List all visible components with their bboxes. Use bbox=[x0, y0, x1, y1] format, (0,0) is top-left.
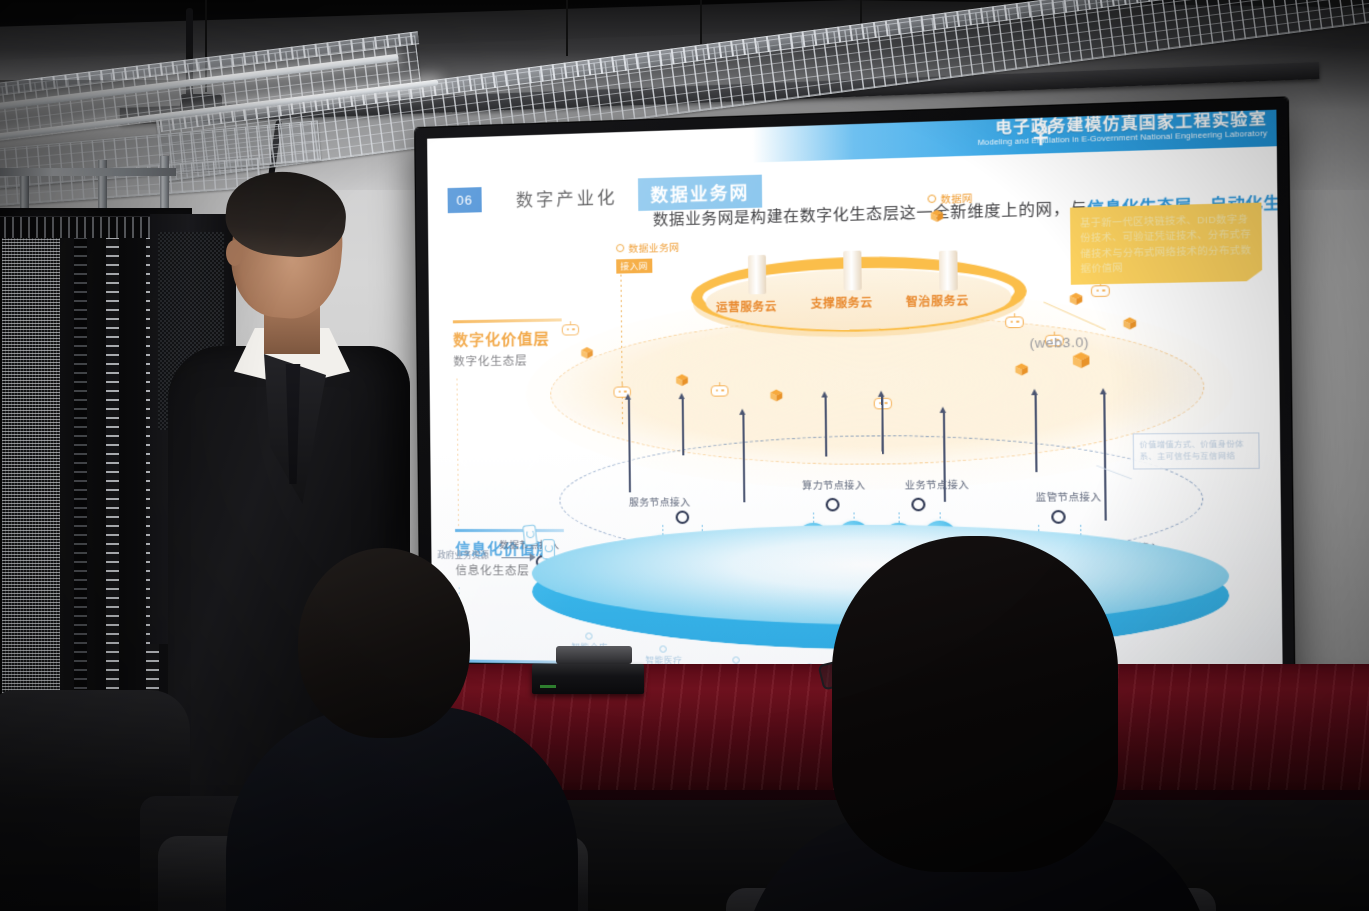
cube-icon bbox=[1072, 351, 1091, 369]
digital-callout-box: 基于新一代区块链技术、DID数字身份技术、可验证凭证技术、分布式存储技术与分布式… bbox=[1070, 203, 1262, 285]
cube-icon bbox=[1069, 292, 1084, 306]
access-label-regulation: 监管节点接入 bbox=[1036, 489, 1102, 504]
cloud-pillar bbox=[748, 255, 766, 295]
node-stem bbox=[899, 512, 901, 522]
access-node-ring bbox=[826, 498, 840, 512]
access-label-compute: 算力节点接入 bbox=[802, 477, 865, 492]
mobile-device-icon bbox=[522, 524, 537, 545]
cube-icon bbox=[769, 389, 783, 403]
cloud-label-support: 支撑服务云 bbox=[811, 294, 873, 312]
attendee-hair bbox=[832, 536, 1118, 872]
auto-item-dot bbox=[659, 645, 666, 652]
access-node-ring bbox=[911, 498, 925, 512]
node-chip-icon bbox=[711, 385, 729, 396]
cloud-label-operation: 运营服务云 bbox=[716, 298, 777, 316]
information-note-box: 价值增值方式、价值身份体系、主可信任与互信网络 bbox=[1133, 432, 1260, 469]
node-chip-icon bbox=[1005, 316, 1024, 328]
legend-bar bbox=[455, 529, 564, 532]
media-receiver bbox=[556, 646, 632, 664]
data-business-net-label: 数据业务网 bbox=[628, 240, 679, 256]
legend-bar bbox=[453, 318, 562, 323]
access-label-business: 业务节点接入 bbox=[905, 477, 970, 492]
slide-number-badge: 06 bbox=[448, 187, 482, 213]
node-chip-icon bbox=[1091, 285, 1110, 297]
cloud-pillar bbox=[939, 250, 958, 290]
node-stem bbox=[813, 512, 814, 522]
access-node-ring bbox=[676, 511, 690, 524]
cube-icon bbox=[675, 373, 689, 386]
presentation-room-scene: 电子政务建模仿真国家工程实验室 Modeling and Emulation i… bbox=[0, 0, 1369, 911]
auto-item-dot bbox=[732, 656, 739, 663]
cube-icon bbox=[1122, 316, 1137, 330]
attendee-male bbox=[236, 548, 566, 911]
legend-connector bbox=[456, 378, 459, 529]
ceiling-hanger bbox=[566, 0, 568, 56]
attendee-head bbox=[298, 548, 470, 738]
attendee-female bbox=[786, 536, 1166, 911]
access-node-ring bbox=[1051, 510, 1066, 524]
cloud-label-governance: 智治服务云 bbox=[906, 292, 969, 310]
ceiling-hanger bbox=[700, 0, 702, 44]
data-net-label: 数据网 bbox=[940, 190, 972, 206]
node-stem bbox=[662, 525, 663, 535]
data-business-net-dot bbox=[616, 244, 624, 252]
cube-icon bbox=[580, 346, 593, 359]
legend-title: 数字化价值层 bbox=[453, 327, 562, 350]
node-chip-icon bbox=[562, 324, 579, 335]
auto-item-dot bbox=[585, 633, 592, 640]
cube-icon bbox=[1014, 363, 1028, 377]
access-net-chip: 接入网 bbox=[616, 259, 652, 274]
access-label-service: 服务节点接入 bbox=[629, 494, 691, 508]
slide-category-label: 数字产业化 bbox=[516, 183, 618, 211]
web3-label: (web3.0) bbox=[1029, 334, 1089, 351]
cloud-pillar bbox=[843, 251, 862, 291]
cube-icon bbox=[930, 209, 944, 223]
